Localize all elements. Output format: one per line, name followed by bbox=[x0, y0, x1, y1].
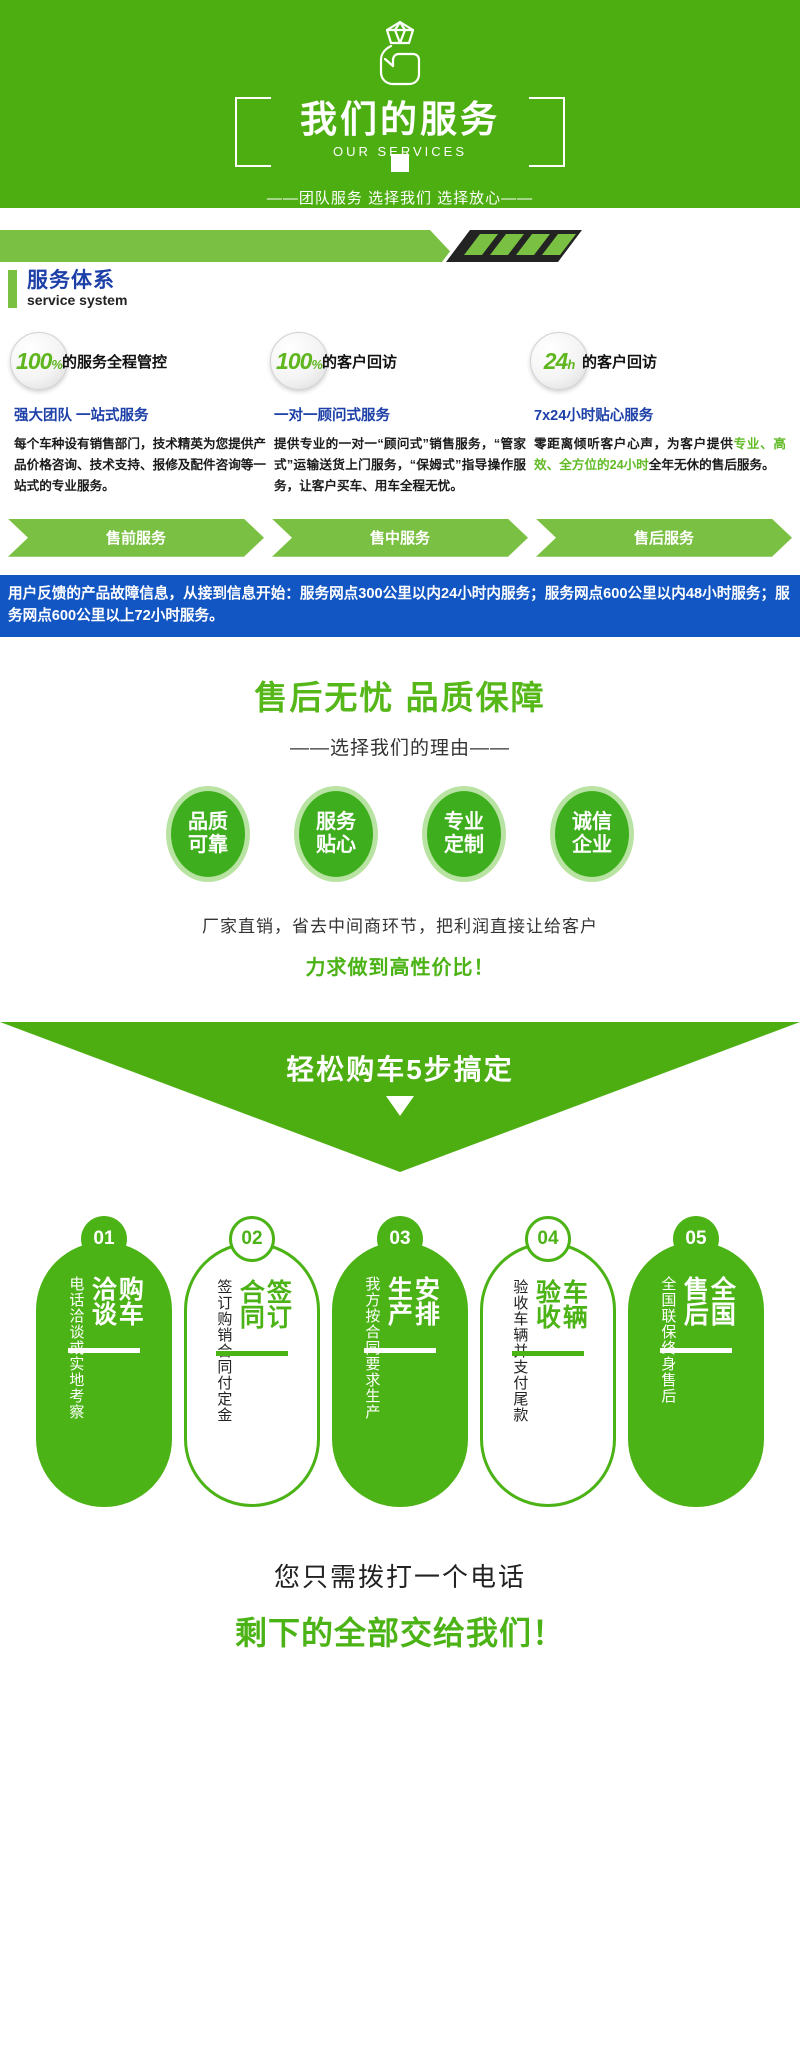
percent-badge-icon: 100% bbox=[270, 332, 328, 390]
step-description: 电话洽谈或实地考察 bbox=[66, 1276, 85, 1491]
step-title: 安排生产 bbox=[384, 1276, 438, 1338]
footer-line1: 您只需拨打一个电话 bbox=[0, 1557, 800, 1594]
step-number-badge: 02 bbox=[229, 1216, 275, 1262]
step-description: 验收车辆并支付尾款 bbox=[510, 1279, 529, 1494]
feature-body: 提供专业的一对一“顾问式”销售服务，“管家式”运输送货上门服务，“保姆式”指导操… bbox=[274, 434, 526, 496]
hero-tagline: ——团队服务 选择我们 选择放心—— bbox=[267, 187, 533, 208]
step-number-badge: 03 bbox=[377, 1216, 423, 1262]
service-system-title-cn: 服务体系 bbox=[27, 270, 127, 292]
feature-item: 100% 的客户回访 一对一顾问式服务 提供专业的一对一“顾问式”销售服务，“管… bbox=[270, 330, 530, 496]
footer-cta: 您只需拨打一个电话 剩下的全部交给我们！ bbox=[0, 1557, 800, 1654]
step-title: 签订合同 bbox=[236, 1279, 290, 1341]
reason-oval: 专业定制 bbox=[422, 786, 506, 882]
ribbon-after-sales[interactable]: 售后服务 bbox=[536, 519, 792, 557]
service-system-heading: 服务体系 service system bbox=[0, 270, 800, 308]
promise-title: 售后无忧 品质保障 bbox=[0, 671, 800, 719]
step-description: 签订购销合同付定金 bbox=[214, 1279, 233, 1494]
chevron-title: 轻松购车5步搞定 bbox=[0, 1048, 800, 1088]
step-item-03[interactable]: 03 安排生产 我方按合同要求生产 bbox=[332, 1216, 468, 1507]
down-caret-icon bbox=[386, 1096, 414, 1116]
footer-line2: 剩下的全部交给我们！ bbox=[0, 1608, 800, 1654]
step-item-01[interactable]: 01 购车洽谈 电话洽谈或实地考察 bbox=[36, 1216, 172, 1507]
step-item-02[interactable]: 02 签订合同 签订购销合同付定金 bbox=[184, 1216, 320, 1507]
step-number-badge: 04 bbox=[525, 1216, 571, 1262]
step-number-badge: 01 bbox=[81, 1216, 127, 1262]
steps-chevron-banner: 轻松购车5步搞定 bbox=[0, 1022, 800, 1172]
step-divider bbox=[216, 1351, 288, 1356]
step-body: 车辆验收 验收车辆并支付尾款 bbox=[480, 1242, 616, 1507]
step-divider bbox=[660, 1348, 732, 1353]
step-item-05[interactable]: 05 全国售后 全国联保终身售后 bbox=[628, 1216, 764, 1507]
reason-oval: 诚信企业 bbox=[550, 786, 634, 882]
service-policy-bar: 用户反馈的产品故障信息，从接到信息开始：服务网点300公里以内24小时内服务；服… bbox=[0, 575, 800, 637]
feature-item: 100% 的服务全程管控 强大团队 一站式服务 每个车种设有销售部门，技术精英为… bbox=[10, 330, 270, 496]
hours-badge-icon: 24h bbox=[530, 332, 588, 390]
feature-item: 24h 的客户回访 7x24小时贴心服务 零距离倾听客户心声，为客户提供专业、高… bbox=[530, 330, 790, 496]
promise-reason: ——选择我们的理由—— bbox=[0, 733, 800, 760]
step-description: 我方按合同要求生产 bbox=[362, 1276, 381, 1491]
feature-list: 100% 的服务全程管控 强大团队 一站式服务 每个车种设有销售部门，技术精英为… bbox=[0, 330, 800, 496]
step-divider bbox=[364, 1348, 436, 1353]
step-body: 购车洽谈 电话洽谈或实地考察 bbox=[36, 1242, 172, 1507]
step-body: 安排生产 我方按合同要求生产 bbox=[332, 1242, 468, 1507]
feature-badge-caption: 的客户回访 bbox=[582, 351, 657, 372]
page-title: 我们的服务 bbox=[294, 101, 506, 140]
chevron-shape: 轻松购车5步搞定 bbox=[0, 1022, 800, 1172]
step-number-badge: 05 bbox=[673, 1216, 719, 1262]
step-divider bbox=[68, 1348, 140, 1353]
feature-body-post: 全年无休的售后服务。 bbox=[649, 458, 775, 472]
step-body: 全国售后 全国联保终身售后 bbox=[628, 1242, 764, 1507]
service-system-decorative-bar bbox=[0, 222, 800, 268]
hero-notch bbox=[391, 154, 409, 172]
promise-section: 售后无忧 品质保障 ——选择我们的理由—— 品质可靠 服务贴心 专业定制 诚信企… bbox=[0, 671, 800, 980]
feature-badge-caption: 的服务全程管控 bbox=[62, 351, 167, 372]
step-divider bbox=[512, 1351, 584, 1356]
step-title: 全国售后 bbox=[680, 1276, 734, 1338]
step-description: 全国联保终身售后 bbox=[658, 1276, 677, 1491]
step-title: 购车洽谈 bbox=[88, 1276, 142, 1338]
purchase-steps: 01 购车洽谈 电话洽谈或实地考察 02 签订合同 签订购销合同付定金 03 安… bbox=[0, 1216, 800, 1507]
heading-tick-icon bbox=[8, 270, 17, 308]
feature-heading: 强大团队 一站式服务 bbox=[14, 404, 266, 425]
step-item-04[interactable]: 04 车辆验收 验收车辆并支付尾款 bbox=[480, 1216, 616, 1507]
step-body: 签订合同 签订购销合同付定金 bbox=[184, 1242, 320, 1507]
feature-heading: 7x24小时贴心服务 bbox=[534, 404, 786, 425]
feature-body: 零距离倾听客户心声，为客户提供专业、高效、全方位的24小时全年无休的售后服务。 bbox=[534, 434, 786, 476]
ribbon-pre-sales[interactable]: 售前服务 bbox=[8, 519, 264, 557]
reason-oval-list: 品质可靠 服务贴心 专业定制 诚信企业 bbox=[0, 786, 800, 882]
feature-heading: 一对一顾问式服务 bbox=[274, 404, 526, 425]
promise-note-line1: 厂家直销，省去中间商环节，把利润直接让给客户 bbox=[0, 912, 800, 937]
service-system-title-en: service system bbox=[27, 293, 127, 308]
hero-banner: 我们的服务 OUR SERVICES ——团队服务 选择我们 选择放心—— bbox=[0, 0, 800, 208]
service-stage-ribbons: 售前服务 售中服务 售后服务 bbox=[0, 519, 800, 557]
hero-title-frame: 我们的服务 OUR SERVICES bbox=[235, 97, 565, 163]
reason-oval: 服务贴心 bbox=[294, 786, 378, 882]
feature-body-pre: 零距离倾听客户心声，为客户提供 bbox=[534, 437, 734, 451]
feature-badge-caption: 的客户回访 bbox=[322, 351, 397, 372]
promise-note-line2: 力求做到高性价比！ bbox=[0, 951, 800, 980]
step-title: 车辆验收 bbox=[532, 1279, 586, 1341]
percent-badge-icon: 100% bbox=[10, 332, 68, 390]
feature-body: 每个车种设有销售部门，技术精英为您提供产品价格咨询、技术支持、报修及配件咨询等一… bbox=[14, 434, 266, 496]
ribbon-during-sales[interactable]: 售中服务 bbox=[272, 519, 528, 557]
reason-oval: 品质可靠 bbox=[166, 786, 250, 882]
hand-diamond-icon bbox=[369, 16, 431, 93]
